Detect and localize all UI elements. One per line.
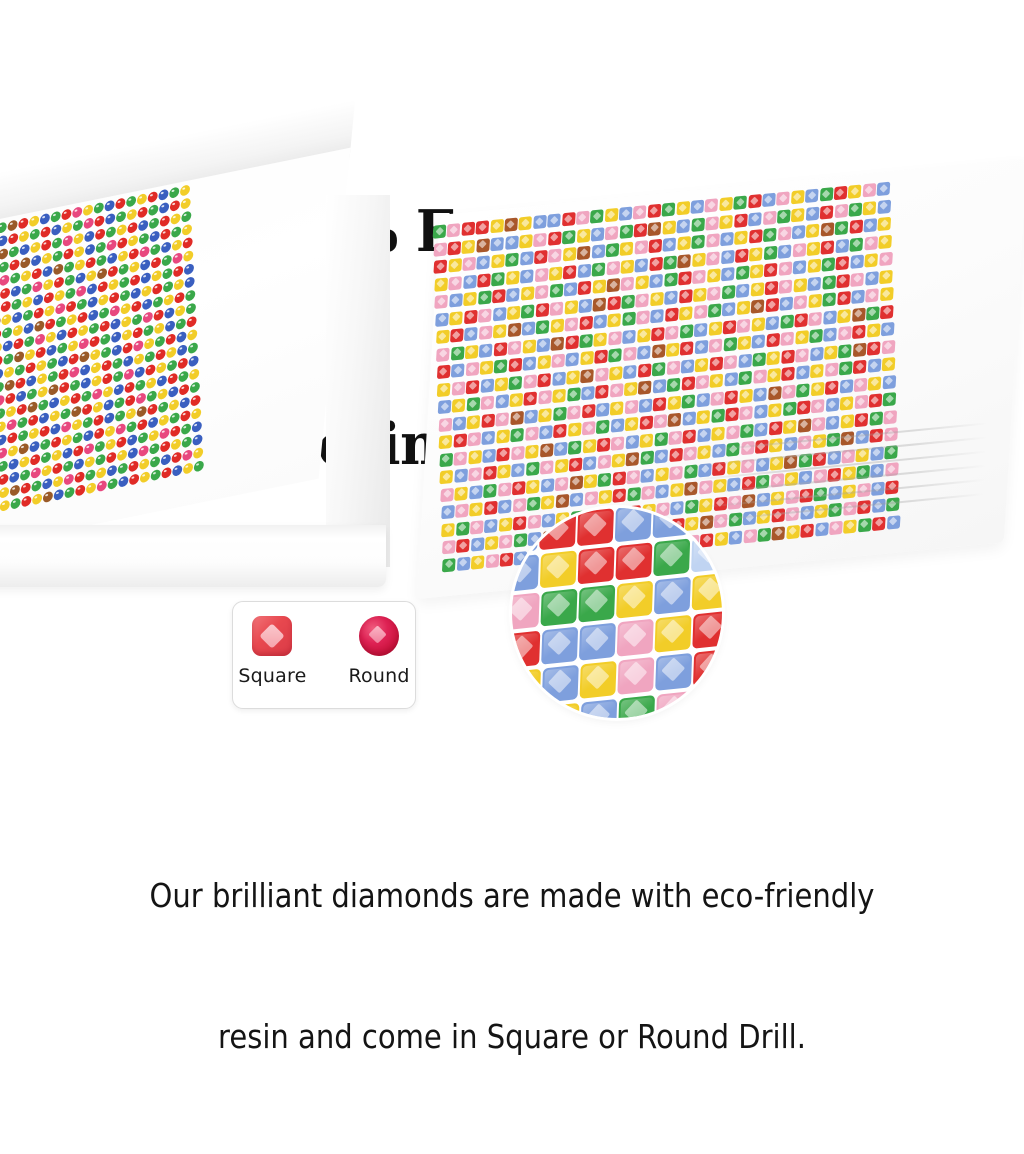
drill	[89, 335, 100, 347]
drill	[155, 335, 166, 347]
drill	[777, 226, 791, 240]
drill	[29, 440, 40, 452]
drill	[653, 397, 667, 411]
drill	[50, 423, 61, 435]
drill	[42, 478, 53, 490]
drill	[8, 458, 19, 470]
drill	[695, 357, 709, 371]
drill	[99, 307, 110, 319]
drill	[60, 408, 71, 420]
drill	[159, 215, 170, 227]
drill	[442, 540, 456, 554]
drill	[565, 335, 579, 349]
drill	[510, 410, 524, 424]
drill	[667, 395, 681, 409]
drill	[782, 384, 796, 398]
drill	[608, 313, 622, 327]
drill	[551, 336, 565, 350]
drill	[868, 376, 882, 390]
drill	[40, 438, 51, 450]
drill	[449, 293, 463, 307]
drill	[811, 399, 825, 413]
drill	[188, 355, 199, 367]
drill	[125, 394, 136, 406]
drill	[181, 436, 192, 448]
drill	[111, 331, 122, 343]
drill	[59, 394, 70, 406]
drill	[127, 447, 138, 459]
drill	[15, 377, 26, 389]
drill	[469, 502, 483, 516]
drill	[549, 266, 563, 280]
drill	[596, 402, 610, 416]
drill	[184, 263, 195, 275]
drill	[177, 357, 188, 369]
drill	[867, 341, 881, 355]
drill	[441, 505, 455, 519]
drill	[142, 298, 153, 310]
drill	[174, 292, 185, 304]
drill	[534, 267, 548, 281]
drill	[63, 460, 74, 472]
drill	[878, 234, 892, 248]
drill	[186, 316, 197, 328]
drill	[80, 377, 91, 389]
legend-items: Square Round	[233, 616, 415, 687]
drill	[706, 233, 720, 247]
drill	[476, 220, 490, 234]
drill	[65, 287, 76, 299]
drill	[159, 202, 170, 214]
drill	[678, 271, 692, 285]
drill	[656, 484, 670, 498]
drill	[590, 209, 604, 223]
drill	[181, 423, 192, 435]
drill	[172, 464, 183, 476]
drill	[855, 412, 869, 426]
drill	[805, 189, 819, 203]
drill	[21, 270, 32, 282]
drill	[53, 475, 64, 487]
drill	[777, 209, 791, 223]
drill	[150, 456, 161, 468]
drill	[441, 522, 455, 536]
drill	[582, 421, 596, 435]
drill	[810, 346, 824, 360]
drill	[119, 276, 130, 288]
drill	[4, 366, 15, 378]
product-caption: Our brilliant diamonds are made with eco…	[61, 778, 962, 1154]
drill	[653, 379, 667, 393]
drill	[449, 311, 463, 325]
drill	[463, 274, 477, 288]
drill	[537, 373, 551, 387]
drill	[138, 445, 149, 457]
drill	[595, 385, 609, 399]
drill	[62, 235, 73, 247]
drill	[680, 324, 694, 338]
drill	[466, 379, 480, 393]
drill	[865, 288, 879, 302]
drill	[86, 482, 97, 494]
drill	[509, 393, 523, 407]
drill	[470, 537, 484, 551]
drill	[496, 429, 510, 443]
drill	[10, 484, 21, 496]
drill	[837, 291, 851, 305]
drill	[34, 320, 45, 332]
drill	[170, 200, 181, 212]
drill	[555, 476, 569, 490]
drill	[180, 197, 191, 209]
drill	[547, 213, 561, 227]
drill	[25, 362, 36, 374]
drill	[435, 295, 449, 309]
drill	[512, 508, 538, 516]
drill	[752, 334, 766, 348]
drill	[107, 265, 118, 277]
drill	[18, 217, 29, 229]
drill	[135, 379, 146, 391]
drill	[836, 256, 850, 270]
drill	[94, 427, 105, 439]
drill	[512, 592, 540, 630]
drill	[188, 342, 199, 354]
drill	[611, 436, 625, 450]
drill	[40, 226, 51, 238]
drill	[137, 418, 148, 430]
drill	[3, 353, 14, 365]
drill	[504, 218, 518, 232]
drill	[619, 207, 633, 221]
drill	[86, 270, 97, 282]
drill	[806, 206, 820, 220]
drill	[183, 250, 194, 262]
drill	[509, 375, 523, 389]
drill	[735, 248, 749, 262]
drill	[136, 392, 147, 404]
drill	[579, 623, 616, 661]
drill	[591, 244, 605, 258]
drill	[80, 364, 91, 376]
drill	[176, 331, 187, 343]
drill	[64, 261, 75, 273]
drill	[669, 465, 683, 479]
drill	[118, 263, 129, 275]
drill	[666, 360, 680, 374]
drill	[76, 285, 87, 297]
drill	[95, 228, 106, 240]
drill	[708, 321, 722, 335]
drill	[649, 256, 663, 270]
drill	[754, 404, 768, 418]
drill	[520, 269, 534, 283]
drill	[593, 314, 607, 328]
drill	[495, 394, 509, 408]
drill	[456, 521, 470, 535]
drill	[77, 311, 88, 323]
drill	[102, 373, 113, 385]
drill	[878, 217, 892, 231]
drill	[608, 331, 622, 345]
drill	[710, 391, 724, 405]
drill	[492, 307, 506, 321]
drill	[748, 212, 762, 226]
drill	[96, 254, 107, 266]
drill	[23, 322, 34, 334]
drill	[41, 239, 52, 251]
drill	[651, 326, 665, 340]
drill	[180, 184, 191, 196]
drill	[434, 277, 448, 291]
drill	[822, 292, 836, 306]
drill	[835, 238, 849, 252]
drill	[469, 485, 483, 499]
drill	[612, 453, 626, 467]
drill	[736, 283, 750, 297]
drill	[26, 388, 37, 400]
drill	[79, 351, 90, 363]
drill	[748, 194, 762, 208]
drill	[465, 344, 479, 358]
drill	[132, 327, 143, 339]
drill	[853, 360, 867, 374]
drill	[67, 327, 78, 339]
drill	[127, 434, 138, 446]
drill	[655, 615, 692, 653]
drill	[56, 316, 67, 328]
drill	[41, 464, 52, 476]
drill	[650, 274, 664, 288]
drill	[153, 309, 164, 321]
drill	[187, 329, 198, 341]
drill	[483, 483, 497, 497]
drill	[108, 278, 119, 290]
drill	[726, 425, 740, 439]
drill	[540, 460, 554, 474]
drill	[697, 410, 711, 424]
drill	[723, 320, 737, 334]
drill	[670, 483, 684, 497]
drill	[451, 363, 465, 377]
drill	[433, 242, 447, 256]
drill	[455, 486, 469, 500]
drill	[851, 290, 865, 304]
drill	[480, 361, 494, 375]
drill	[1, 313, 12, 325]
drill	[764, 245, 778, 259]
drill	[508, 358, 522, 372]
drill	[691, 534, 722, 572]
drill	[464, 327, 478, 341]
drill	[41, 252, 52, 264]
drill	[107, 478, 118, 490]
drill	[175, 305, 186, 317]
drill	[612, 471, 626, 485]
drill	[127, 221, 138, 233]
caption-line-2: resin and come in Square or Round Drill.	[61, 1013, 962, 1060]
drill	[839, 379, 853, 393]
drill	[37, 373, 48, 385]
drill	[173, 278, 184, 290]
drill	[0, 473, 9, 485]
drill	[783, 419, 797, 433]
square-gem-icon	[252, 616, 292, 656]
drill	[550, 319, 564, 333]
drill	[627, 487, 641, 501]
drill	[512, 481, 526, 495]
drill	[167, 359, 178, 371]
drill	[623, 347, 637, 361]
drill	[193, 460, 204, 472]
drill	[66, 300, 77, 312]
drill	[539, 512, 576, 550]
drill	[696, 375, 710, 389]
drill	[738, 353, 752, 367]
drill	[676, 201, 690, 215]
drill	[734, 231, 748, 245]
drill	[146, 377, 157, 389]
drill	[849, 202, 863, 216]
drill	[73, 445, 84, 457]
drill	[636, 293, 650, 307]
drill	[536, 320, 550, 334]
drill	[551, 354, 565, 368]
drill	[162, 267, 173, 279]
drill	[62, 222, 73, 234]
drill	[648, 239, 662, 253]
caption-line-1: Our brilliant diamonds are made with eco…	[61, 872, 962, 919]
product-marketing-image: 100% Eco-Friendly Resin Diamonds	[0, 0, 1024, 923]
drill	[433, 224, 447, 238]
drill	[522, 321, 536, 335]
drill	[823, 310, 837, 324]
drill	[521, 304, 535, 318]
drill	[28, 414, 39, 426]
drill	[739, 371, 753, 385]
legend-label-square: Square	[238, 665, 306, 687]
drill	[496, 412, 510, 426]
drill	[121, 316, 132, 328]
drill	[620, 259, 634, 273]
drill	[796, 383, 810, 397]
drill	[14, 364, 25, 376]
drill	[618, 695, 655, 718]
drill	[797, 400, 811, 414]
drill	[709, 356, 723, 370]
drill	[864, 253, 878, 267]
drill	[580, 351, 594, 365]
drill	[149, 230, 160, 242]
drill	[690, 200, 704, 214]
drill	[882, 375, 896, 389]
drill	[18, 443, 29, 455]
drill	[569, 457, 583, 471]
drill	[540, 588, 577, 626]
drill	[61, 208, 72, 220]
drill	[512, 669, 541, 707]
drill	[24, 335, 35, 347]
drill	[641, 486, 655, 500]
drill	[621, 294, 635, 308]
drill	[720, 232, 734, 246]
drill	[864, 236, 878, 250]
drill	[622, 329, 636, 343]
drill	[148, 204, 159, 216]
drill	[191, 408, 202, 420]
drill	[594, 332, 608, 346]
drill	[583, 456, 597, 470]
drill	[567, 405, 581, 419]
drill	[592, 279, 606, 293]
drill	[751, 317, 765, 331]
drill	[499, 517, 513, 531]
drill	[38, 399, 49, 411]
drill	[563, 247, 577, 261]
drill	[442, 558, 456, 572]
tray-floor	[0, 148, 351, 565]
drill	[0, 235, 8, 247]
drill	[2, 340, 13, 352]
drill	[172, 252, 183, 264]
drill	[783, 402, 797, 416]
drill	[615, 508, 652, 542]
drill	[626, 469, 640, 483]
drill	[825, 398, 839, 412]
drill	[455, 504, 469, 518]
drill	[677, 236, 691, 250]
drill	[639, 398, 653, 412]
drill	[520, 251, 534, 265]
drill	[97, 281, 108, 293]
drill	[838, 326, 852, 340]
drill	[668, 430, 682, 444]
drill	[49, 397, 60, 409]
drill	[85, 257, 96, 269]
drill	[622, 312, 636, 326]
drill	[655, 467, 669, 481]
drill	[881, 339, 895, 353]
drill	[20, 257, 31, 269]
drill	[10, 285, 21, 297]
round-drill-tray	[0, 225, 400, 655]
drill	[635, 275, 649, 289]
drill	[662, 220, 676, 234]
drill	[92, 401, 103, 413]
drill	[0, 486, 10, 498]
drill	[707, 286, 721, 300]
drill	[6, 419, 17, 431]
drill	[526, 462, 540, 476]
drill	[461, 222, 475, 236]
drill	[735, 266, 749, 280]
drill	[663, 255, 677, 269]
drill	[850, 255, 864, 269]
drill	[82, 416, 93, 428]
drill	[576, 228, 590, 242]
drill	[682, 411, 696, 425]
drill	[542, 703, 579, 718]
drill	[639, 416, 653, 430]
drill	[812, 416, 826, 430]
drill	[592, 262, 606, 276]
drill	[107, 252, 118, 264]
drill	[619, 224, 633, 238]
drill	[710, 374, 724, 388]
drill	[511, 463, 525, 477]
drill	[61, 434, 72, 446]
drill	[539, 508, 576, 512]
